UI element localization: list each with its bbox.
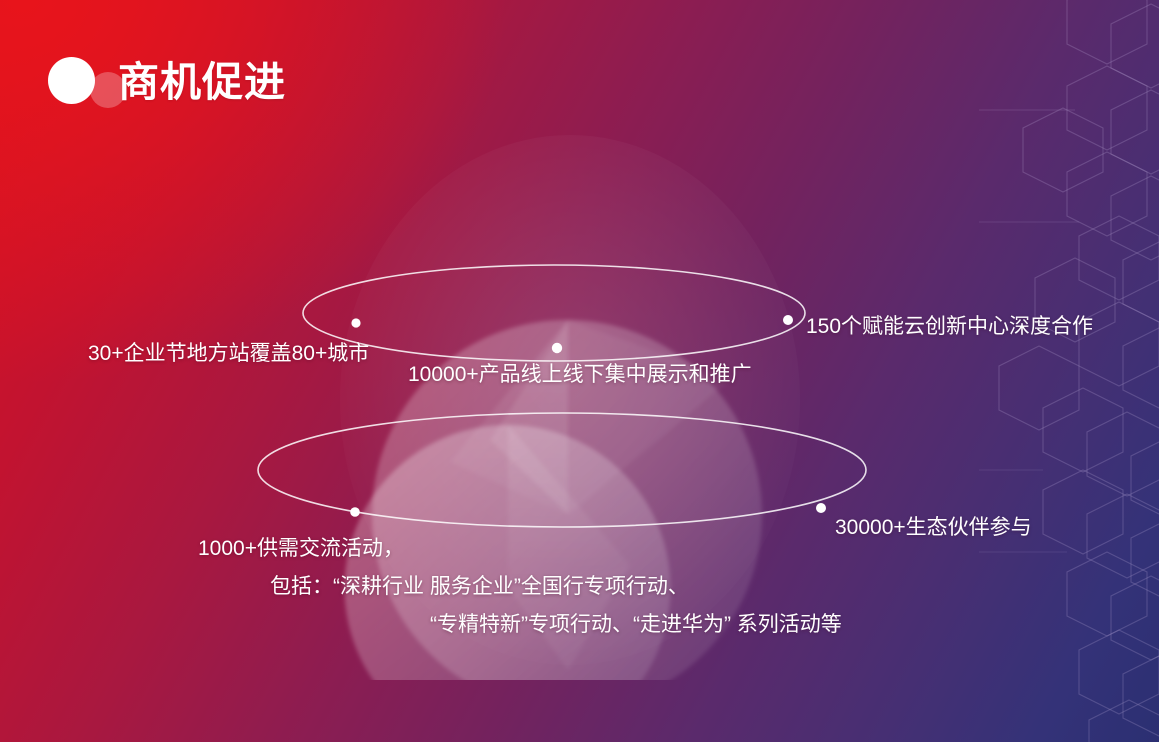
page-title: 商机促进: [118, 62, 286, 103]
callout-label-centers: 150个赋能云创新中心深度合作: [806, 311, 1093, 343]
hexagon-pattern-decoration: [979, 0, 1159, 742]
callout-label-events-line3: “专精特新”专项行动、“走进华为” 系列活动等: [430, 609, 842, 641]
callout-label-cities: 30+企业节地方站覆盖80+城市: [88, 338, 369, 370]
callout-label-events-line2: 包括：“深耕行业 服务企业”全国行专项行动、: [270, 571, 689, 603]
translucent-circle-icon: [90, 72, 126, 108]
orbit-node-cities: [351, 318, 360, 327]
callout-label-products: 10000+产品线上线下集中展示和推广: [408, 359, 752, 391]
callout-label-partners: 30000+生态伙伴参与: [835, 512, 1032, 544]
slide-canvas: 商机促进 30+企业节地方站覆盖80+城市 10000+产品线上线下集中展示和推…: [0, 0, 1159, 742]
orbit-node-events: [350, 507, 360, 517]
orbit-node-products: [552, 343, 562, 353]
slide-title-block: 商机促进: [48, 52, 286, 112]
title-dot-mark: [48, 54, 122, 110]
white-circle-icon: [48, 57, 95, 104]
callout-label-events-line1: 1000+供需交流活动，: [198, 533, 404, 565]
orbit-ring-lower: [258, 413, 866, 527]
orbit-node-centers: [783, 315, 793, 325]
orbit-node-partners: [816, 503, 826, 513]
orbit-ring-upper: [303, 265, 805, 361]
